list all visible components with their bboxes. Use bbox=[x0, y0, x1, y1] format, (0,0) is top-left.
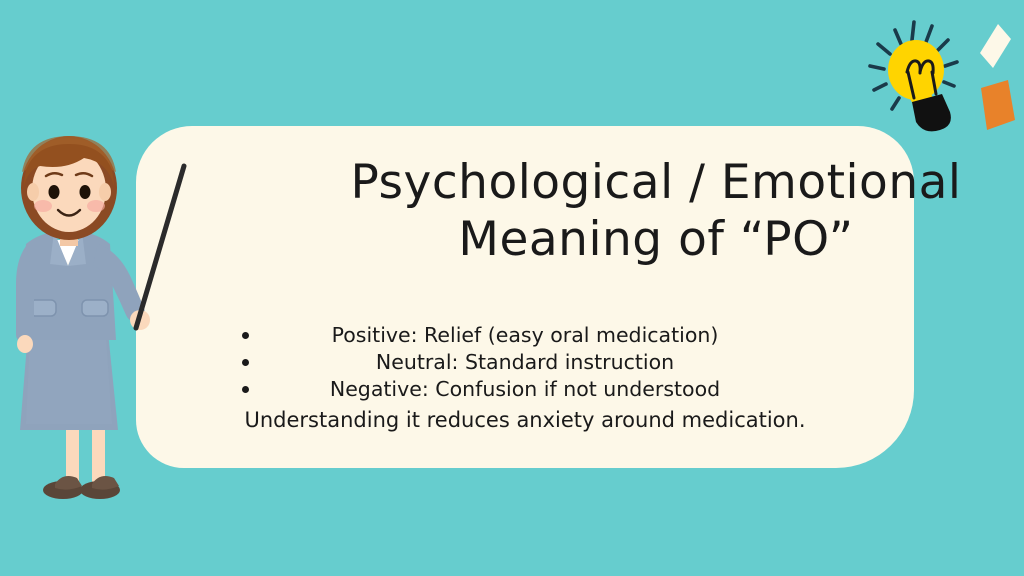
list-item-label: Positive: Relief (easy oral medication) bbox=[136, 322, 914, 349]
diamond-shape bbox=[978, 22, 1012, 70]
teacher-character bbox=[0, 132, 200, 504]
content-card: Psychological / Emotional Meaning of “PO… bbox=[136, 126, 914, 468]
closing-statement: Understanding it reduces anxiety around … bbox=[136, 406, 914, 434]
pointer-stick bbox=[136, 166, 184, 328]
left-cheek bbox=[34, 200, 52, 212]
skirt-shade bbox=[26, 338, 112, 424]
left-ear bbox=[27, 183, 39, 201]
right-eye bbox=[80, 185, 91, 199]
slide-canvas: Psychological / Emotional Meaning of “PO… bbox=[0, 0, 1024, 576]
list-item: Neutral: Standard instruction bbox=[136, 349, 914, 376]
bullet-marker-icon bbox=[242, 386, 249, 393]
bullet-list: Positive: Relief (easy oral medication) … bbox=[136, 322, 914, 434]
list-item-label: Negative: Confusion if not understood bbox=[136, 376, 914, 403]
list-item: Negative: Confusion if not understood bbox=[136, 376, 914, 403]
list-item-label: Neutral: Standard instruction bbox=[136, 349, 914, 376]
page-title: Psychological / Emotional Meaning of “PO… bbox=[306, 154, 1006, 268]
left-hand bbox=[17, 335, 33, 353]
orange-parallelogram-shape bbox=[975, 78, 1019, 132]
list-item: Positive: Relief (easy oral medication) bbox=[136, 322, 914, 349]
right-pocket bbox=[82, 300, 108, 316]
title-line-1: Psychological / Emotional bbox=[306, 154, 1006, 211]
right-ear bbox=[99, 183, 111, 201]
lightbulb-icon bbox=[862, 14, 972, 132]
bullet-marker-icon bbox=[242, 359, 249, 366]
left-eye bbox=[49, 185, 60, 199]
diamond-shape-path bbox=[980, 24, 1011, 68]
bullet-marker-icon bbox=[242, 332, 249, 339]
orange-parallelogram-path bbox=[981, 80, 1015, 130]
title-line-2: Meaning of “PO” bbox=[306, 211, 1006, 268]
right-cheek bbox=[87, 200, 105, 212]
